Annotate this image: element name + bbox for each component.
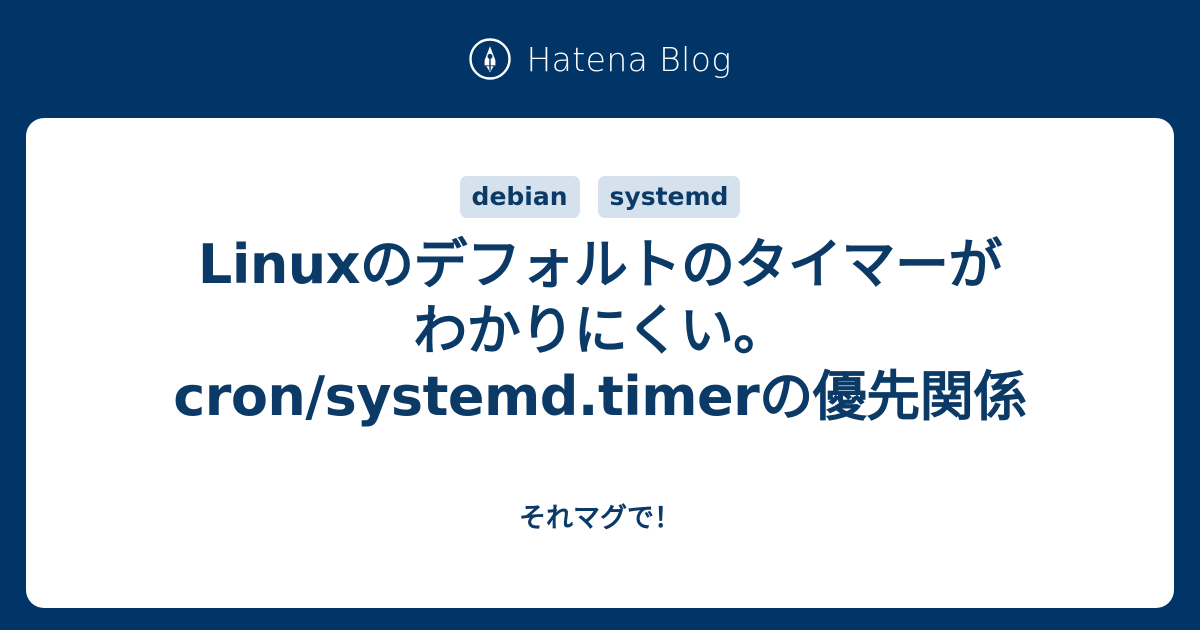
hatena-pen-nib-icon xyxy=(468,37,512,81)
page-title: Linuxのデフォルトのタイマーが わかりにくい。 cron/systemd.t… xyxy=(173,232,1027,430)
og-image-canvas: Hatena Blog debian systemd Linuxのデフォルトのタ… xyxy=(0,0,1200,630)
tag-systemd[interactable]: systemd xyxy=(598,176,741,218)
title-line-3: cron/systemd.timerの優先関係 xyxy=(173,365,1027,428)
tag-debian[interactable]: debian xyxy=(460,176,580,218)
entry-card: debian systemd Linuxのデフォルトのタイマーが わかりにくい。… xyxy=(26,118,1174,608)
tag-list: debian systemd xyxy=(460,176,741,218)
brand-header: Hatena Blog xyxy=(0,0,1200,118)
title-line-2: わかりにくい。 xyxy=(413,299,786,362)
blog-name: それマグで！ xyxy=(519,505,681,532)
title-line-1: Linuxのデフォルトのタイマーが xyxy=(198,233,1002,296)
hatena-blog-wordmark: Hatena Blog xyxy=(526,43,731,76)
